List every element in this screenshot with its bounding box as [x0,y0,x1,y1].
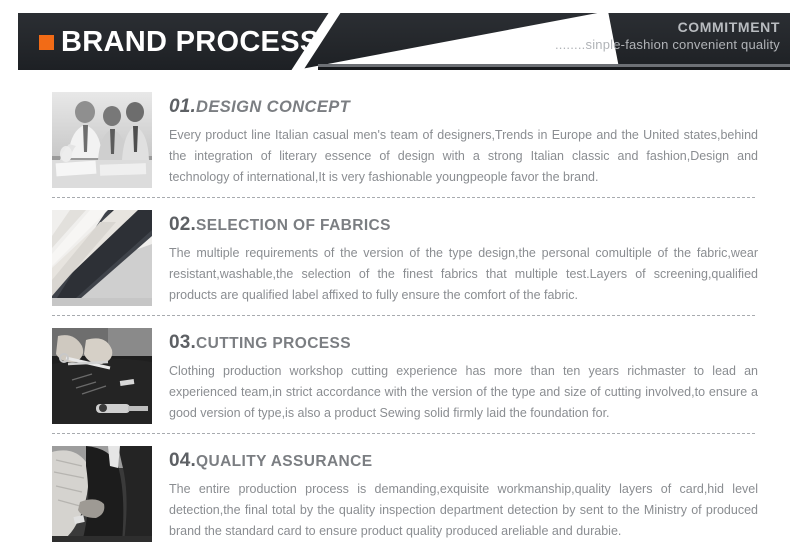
section-thumbnail-quality-assurance [52,446,152,542]
section-text-block: 04.QUALITY ASSURANCE The entire producti… [152,442,758,542]
section-title-text: CUTTING PROCESS [196,335,351,352]
section-heading: 01.DESIGN CONCEPT [169,96,758,118]
section-body-text: Every product line Italian casual men's … [169,125,758,188]
page-header-banner: BRAND PROCESS COMMITMENT ........sinple-… [18,13,790,70]
section-heading: 04.QUALITY ASSURANCE [169,450,758,472]
header-underline-dark [318,67,790,70]
section-thumbnail-cutting-process [52,328,152,424]
process-section-04: 04.QUALITY ASSURANCE The entire producti… [0,434,803,542]
section-text-block: 03.CUTTING PROCESS Clothing production w… [152,324,758,424]
commitment-heading: COMMITMENT [555,19,780,36]
process-section-03: 03.CUTTING PROCESS Clothing production w… [0,316,803,434]
section-body-text: Clothing production workshop cutting exp… [169,361,758,424]
section-body-text: The multiple requirements of the version… [169,243,758,306]
section-title-text: DESIGN CONCEPT [196,98,350,116]
section-heading: 02.SELECTION OF FABRICS [169,214,758,236]
section-text-block: 02.SELECTION OF FABRICS The multiple req… [152,206,758,306]
section-thumbnail-selection-of-fabrics [52,210,152,306]
commitment-block: COMMITMENT ........sinple-fashion conven… [555,19,780,54]
section-thumbnail-design-concept [52,92,152,188]
section-number: 03. [169,332,196,353]
section-title-text: QUALITY ASSURANCE [196,453,372,470]
section-number: 01. [169,96,196,117]
process-section-list: 01.DESIGN CONCEPT Every product line Ita… [0,80,803,542]
process-section-01: 01.DESIGN CONCEPT Every product line Ita… [0,80,803,198]
section-number: 02. [169,214,196,235]
commitment-tagline: ........sinple-fashion convenient qualit… [555,36,780,54]
section-text-block: 01.DESIGN CONCEPT Every product line Ita… [152,88,758,188]
process-section-02: 02.SELECTION OF FABRICS The multiple req… [0,198,803,316]
orange-square-icon [39,35,54,50]
section-title-text: SELECTION OF FABRICS [196,217,391,234]
page-title: BRAND PROCESS [61,23,320,61]
section-body-text: The entire production process is demandi… [169,479,758,542]
section-number: 04. [169,450,196,471]
section-heading: 03.CUTTING PROCESS [169,332,758,354]
